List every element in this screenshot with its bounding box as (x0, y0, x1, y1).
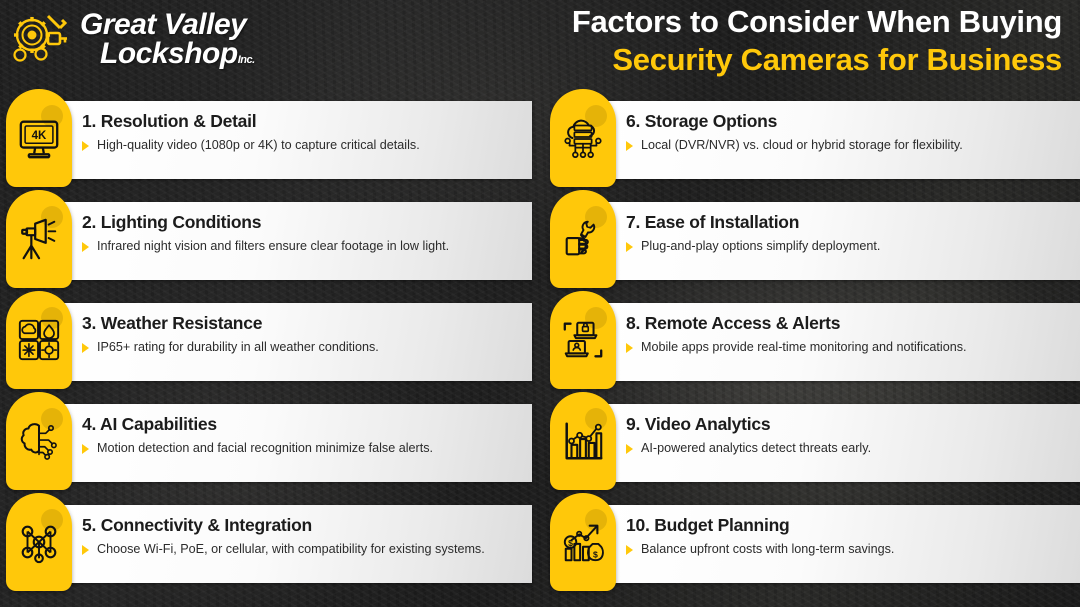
item-description: Local (DVR/NVR) vs. cloud or hybrid stor… (641, 138, 963, 153)
list-item[interactable]: 3. Weather Resistance IP65+ rating for d… (0, 295, 536, 385)
bullet-arrow-icon (626, 444, 633, 454)
card-content: 2. Lighting Conditions Infrared night vi… (82, 194, 526, 272)
item-desc-row: High-quality video (1080p or 4K) to capt… (82, 138, 526, 153)
list-item[interactable]: 4K 1. Resolution & Detail High-quality v… (0, 93, 536, 183)
item-title: 9. Video Analytics (626, 414, 1070, 434)
item-title: 1. Resolution & Detail (82, 111, 526, 131)
list-item[interactable]: 8. Remote Access & Alerts Mobile apps pr… (544, 295, 1080, 385)
card-content: 10. Budget Planning Balance upfront cost… (626, 497, 1070, 575)
item-description: AI-powered analytics detect threats earl… (641, 441, 871, 456)
item-desc-row: IP65+ rating for durability in all weath… (82, 340, 526, 355)
item-title: 8. Remote Access & Alerts (626, 313, 1070, 333)
list-item[interactable]: 7. Ease of Installation Plug-and-play op… (544, 194, 1080, 284)
factors-grid: 4K 1. Resolution & Detail High-quality v… (0, 93, 1080, 607)
bar-chart-line-icon (560, 418, 606, 464)
monitor-4k-icon: 4K (16, 115, 62, 161)
item-desc-row: Infrared night vision and filters ensure… (82, 239, 526, 254)
item-title: 2. Lighting Conditions (82, 212, 526, 232)
item-description: Choose Wi-Fi, PoE, or cellular, with com… (97, 542, 485, 557)
card-content: 8. Remote Access & Alerts Mobile apps pr… (626, 295, 1070, 373)
bullet-arrow-icon (626, 242, 633, 252)
item-description: Motion detection and facial recognition … (97, 441, 433, 456)
brand-line-2-text: Lockshop (100, 37, 238, 70)
money-growth-chart-icon: $ $ (560, 519, 606, 565)
bullet-arrow-icon (82, 141, 89, 151)
header: Great Valley LockshopInc. Factors to Con… (0, 0, 1080, 93)
bullet-arrow-icon (82, 242, 89, 252)
bullet-arrow-icon (626, 141, 633, 151)
icon-badge (6, 493, 72, 591)
brain-circuit-icon (16, 418, 62, 464)
card-content: 3. Weather Resistance IP65+ rating for d… (82, 295, 526, 373)
list-item[interactable]: 2. Lighting Conditions Infrared night vi… (0, 194, 536, 284)
bullet-arrow-icon (82, 545, 89, 555)
card-content: 5. Connectivity & Integration Choose Wi-… (82, 497, 526, 575)
card-content: 9. Video Analytics AI-powered analytics … (626, 396, 1070, 474)
item-desc-row: Motion detection and facial recognition … (82, 441, 526, 456)
item-title: 10. Budget Planning (626, 515, 1070, 535)
bullet-arrow-icon (82, 444, 89, 454)
icon-badge (6, 291, 72, 389)
item-desc-row: Mobile apps provide real-time monitoring… (626, 340, 1070, 355)
weather-grid-icon (16, 317, 62, 363)
icon-badge: $ $ (550, 493, 616, 591)
bullet-arrow-icon (626, 343, 633, 353)
icon-badge (550, 392, 616, 490)
brand-suffix: Inc. (238, 54, 255, 66)
item-desc-row: AI-powered analytics detect threats earl… (626, 441, 1070, 456)
item-title: 6. Storage Options (626, 111, 1070, 131)
card-content: 7. Ease of Installation Plug-and-play op… (626, 194, 1070, 272)
item-description: Plug-and-play options simplify deploymen… (641, 239, 880, 254)
icon-badge: 4K (6, 89, 72, 187)
item-desc-row: Plug-and-play options simplify deploymen… (626, 239, 1070, 254)
studio-light-icon (16, 216, 62, 262)
item-desc-row: Balance upfront costs with long-term sav… (626, 542, 1070, 557)
card-content: 4. AI Capabilities Motion detection and … (82, 396, 526, 474)
icon-badge (550, 89, 616, 187)
brand-wordmark: Great Valley LockshopInc. (78, 11, 255, 69)
item-title: 7. Ease of Installation (626, 212, 1070, 232)
title-line-1: Factors to Consider When Buying (572, 3, 1062, 41)
network-nodes-icon (16, 519, 62, 565)
icon-badge (6, 190, 72, 288)
remote-devices-lock-icon (560, 317, 606, 363)
infographic-page: Great Valley LockshopInc. Factors to Con… (0, 0, 1080, 607)
item-description: Balance upfront costs with long-term sav… (641, 542, 894, 557)
svg-text:$: $ (568, 538, 573, 548)
column-left: 4K 1. Resolution & Detail High-quality v… (0, 93, 540, 607)
svg-text:$: $ (593, 549, 598, 559)
item-title: 5. Connectivity & Integration (82, 515, 526, 535)
icon-badge (550, 190, 616, 288)
list-item[interactable]: 9. Video Analytics AI-powered analytics … (544, 396, 1080, 486)
card-content: 6. Storage Options Local (DVR/NVR) vs. c… (626, 93, 1070, 171)
brand-logo: Great Valley LockshopInc. (8, 8, 255, 72)
icon-badge (550, 291, 616, 389)
svg-text:4K: 4K (32, 130, 47, 142)
page-title: Factors to Consider When Buying Security… (572, 3, 1062, 80)
list-item[interactable]: 6. Storage Options Local (DVR/NVR) vs. c… (544, 93, 1080, 183)
item-description: Infrared night vision and filters ensure… (97, 239, 449, 254)
card-content: 1. Resolution & Detail High-quality vide… (82, 93, 526, 171)
list-item[interactable]: 5. Connectivity & Integration Choose Wi-… (0, 497, 536, 587)
column-right: 6. Storage Options Local (DVR/NVR) vs. c… (540, 93, 1080, 607)
brand-line-1: Great Valley (78, 11, 255, 40)
bullet-arrow-icon (82, 343, 89, 353)
cloud-server-icon (560, 115, 606, 161)
brand-line-2: LockshopInc. (78, 40, 255, 69)
item-description: Mobile apps provide real-time monitoring… (641, 340, 967, 355)
item-title: 3. Weather Resistance (82, 313, 526, 333)
item-desc-row: Local (DVR/NVR) vs. cloud or hybrid stor… (626, 138, 1070, 153)
item-description: High-quality video (1080p or 4K) to capt… (97, 138, 420, 153)
item-description: IP65+ rating for durability in all weath… (97, 340, 379, 355)
item-desc-row: Choose Wi-Fi, PoE, or cellular, with com… (82, 542, 526, 557)
bullet-arrow-icon (626, 545, 633, 555)
item-title: 4. AI Capabilities (82, 414, 526, 434)
list-item[interactable]: $ $ 10. Budget Planning Balance upfron (544, 497, 1080, 587)
hand-wrench-icon (560, 216, 606, 262)
list-item[interactable]: 4. AI Capabilities Motion detection and … (0, 396, 536, 486)
title-line-2: Security Cameras for Business (572, 41, 1062, 79)
icon-badge (6, 392, 72, 490)
lock-gear-keys-logo-icon (8, 8, 72, 72)
